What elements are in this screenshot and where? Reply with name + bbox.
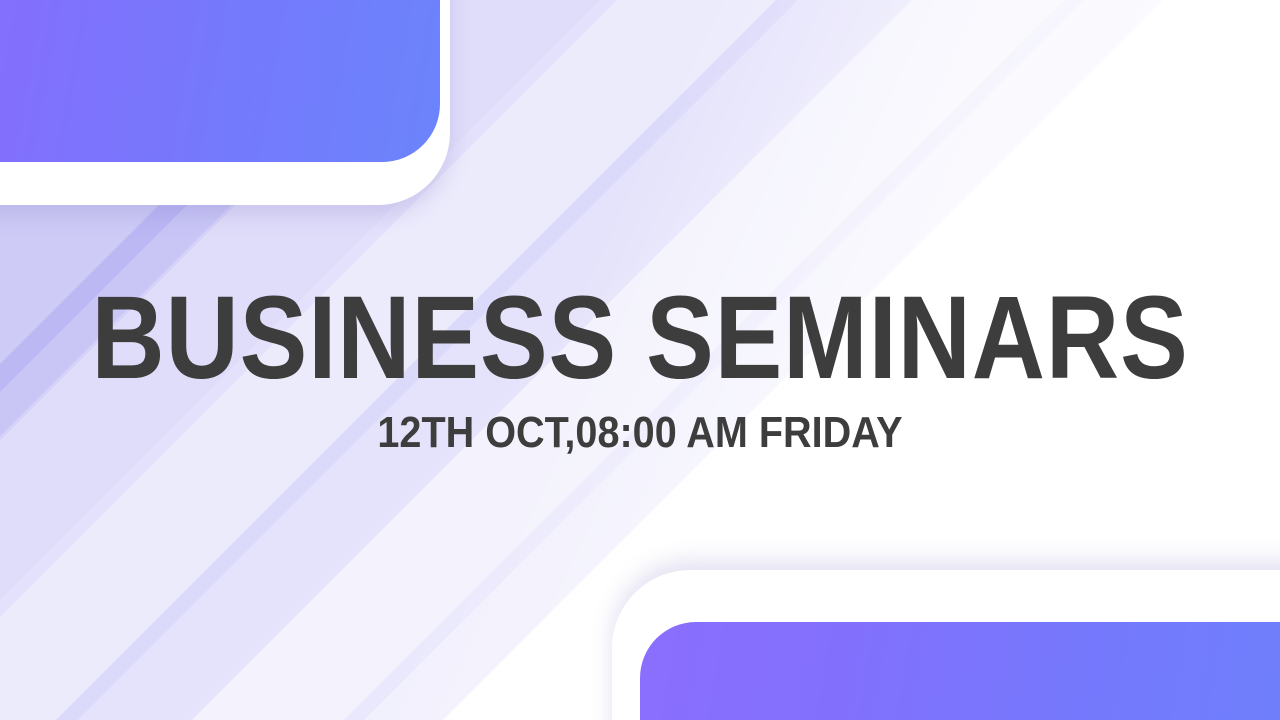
- event-subtitle: 12TH OCT,08:00 AM FRIDAY: [64, 411, 1216, 455]
- event-text-block: BUSINESS SEMINARS 12TH OCT,08:00 AM FRID…: [0, 288, 1280, 455]
- event-title: BUSINESS SEMINARS: [90, 288, 1191, 389]
- event-banner: BUSINESS SEMINARS 12TH OCT,08:00 AM FRID…: [0, 0, 1280, 720]
- bottom-right-gradient-plate: [640, 622, 1280, 720]
- top-left-gradient-plate: [0, 0, 440, 162]
